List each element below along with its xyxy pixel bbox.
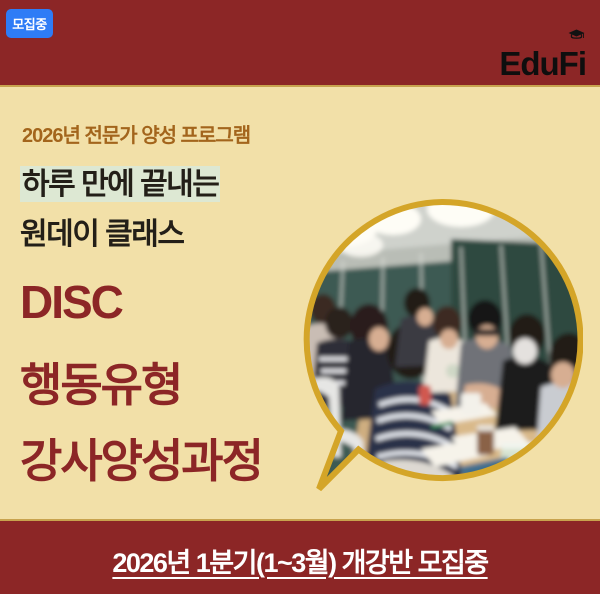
course-title-line-2: 행동유형 — [20, 349, 181, 415]
brand-logo[interactable]: EduFi — [499, 40, 586, 80]
subtitle-line-2: 원데이 클래스 — [20, 209, 183, 253]
course-title-line-1: DISC — [20, 275, 122, 329]
classroom-photo — [301, 199, 583, 497]
program-kicker: 2026년 전문가 양성 프로그램 — [22, 119, 250, 148]
footer-cta[interactable]: 2026년 1분기(1~3월) 개강반 모집중 — [0, 541, 600, 580]
status-badge-label: 모집중 — [12, 14, 46, 33]
status-badge[interactable]: 모집중 — [6, 9, 53, 38]
subtitle-line-1: 하루 만에 끝내는 — [20, 159, 220, 203]
graduation-cap-icon — [568, 29, 585, 40]
promo-poster: 모집중 EduFi 2026년 전문가 양성 프로그램 하루 만에 끝내는 원데… — [0, 0, 600, 594]
course-title-line-3: 강사양성과정 — [20, 425, 262, 491]
brand-logo-text: EduFi — [499, 47, 586, 80]
subtitle-highlight: 하루 만에 끝내는 — [20, 166, 220, 202]
poster-body: 2026년 전문가 양성 프로그램 하루 만에 끝내는 원데이 클래스 DISC… — [0, 87, 600, 521]
